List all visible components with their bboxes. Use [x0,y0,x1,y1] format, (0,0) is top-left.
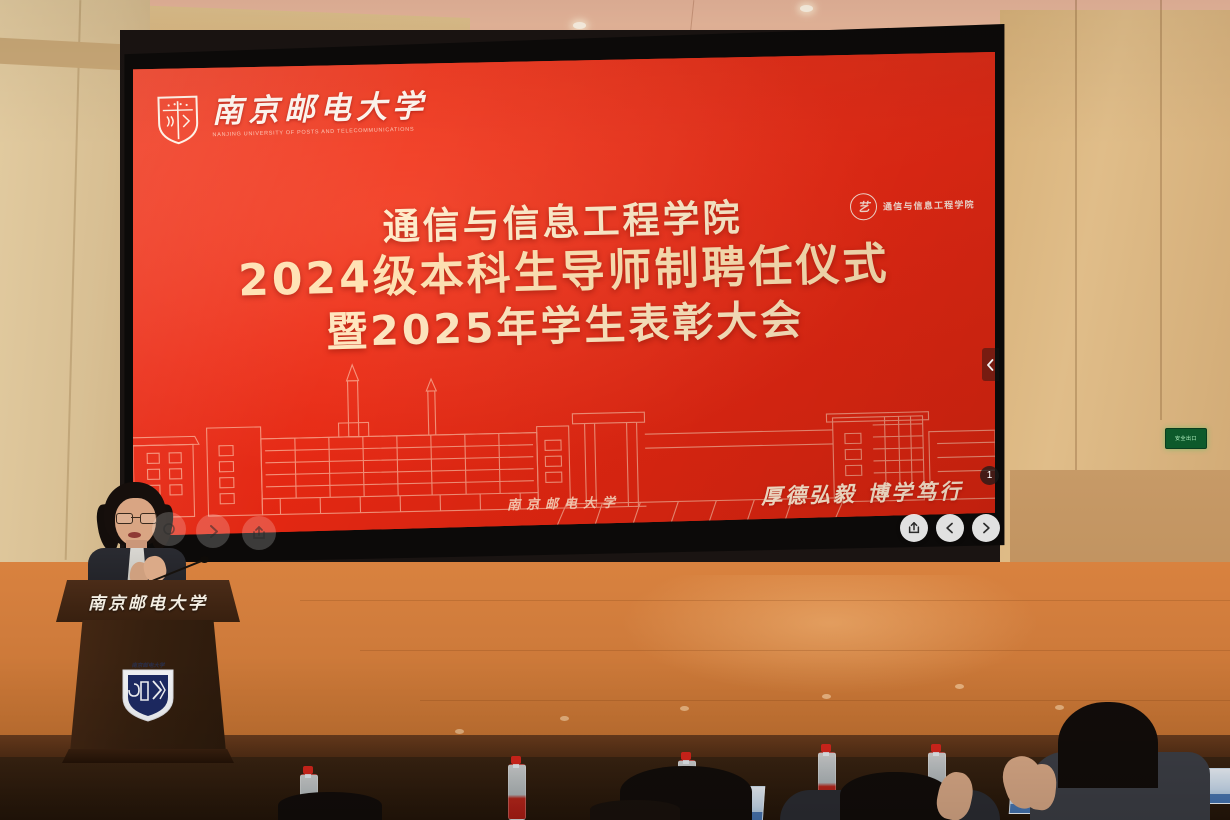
podium-top: 南京邮电大学 [56,580,240,622]
audience-head [278,792,382,820]
share-button[interactable] [900,514,928,542]
screen-university-name-cn: 南京邮电大学 [211,91,428,128]
next-button[interactable] [972,514,1000,542]
circle-icon [161,521,177,537]
audience-head [840,772,950,820]
campus-caption: 南京邮电大学 [507,492,621,514]
floor-marker [560,716,569,721]
floor-marker [955,684,964,689]
led-screen: 南京邮电大学 NANJING UNIVERSITY OF POSTS AND T… [133,52,995,536]
floor-seam [300,600,1230,601]
bottle-cap [511,756,521,764]
glasses-icon [116,513,155,522]
microphone-head [200,556,209,563]
audience-head [1058,702,1158,788]
water-bottle [508,756,524,820]
ceiling-light [800,5,813,12]
floor-marker [455,729,464,734]
chevron-right-icon [979,521,993,535]
floor-seam [420,700,1230,701]
mouth [128,532,141,538]
screen-title-block: 通信与信息工程学院 2024级本科生导师制聘任仪式 暨2025年学生表彰大会 [133,189,995,364]
chevron-right-icon [205,523,222,540]
microphone-arm [152,559,205,582]
glasses-lens [116,513,133,524]
floor-marker [1055,705,1064,710]
podium-name-plate: 南京邮电大学 [56,589,240,614]
previous-button[interactable] [936,514,964,542]
share-icon [907,521,921,535]
collapse-panel-tab[interactable] [982,348,999,381]
floor-seam [360,650,1230,651]
ghost-share-button[interactable] [242,516,276,550]
exit-sign: 安全出口 [1165,428,1207,449]
bottle-cap [303,766,313,774]
podium-base [62,749,234,763]
bottle-cap [681,752,691,760]
share-icon [251,525,267,541]
njupt-shield-crest: 南京邮电大学 [119,658,177,724]
ghost-next-button[interactable] [196,514,230,548]
audience-head [590,800,680,820]
njupt-crest-icon [155,93,200,146]
exit-sign-label: 安全出口 [1175,436,1197,442]
wall-seam [1160,0,1162,420]
podium: 南京邮电大学 南京邮电大学 [48,580,248,780]
screen-motto: 厚德弘毅 博学笃行 [760,475,963,511]
chevron-left-icon [986,359,995,371]
floor-marker [680,706,689,711]
screenshot-root: 安全出口 南京邮电大学 NA [0,0,1230,820]
bottle-cap [821,744,831,752]
bottle-body [508,764,526,820]
screen-university-name-block: 南京邮电大学 NANJING UNIVERSITY OF POSTS AND T… [211,91,428,139]
page-badge[interactable]: 1 [980,466,999,485]
ghost-button-1[interactable] [152,512,186,546]
bottle-cap [931,744,941,752]
screen-university-logo: 南京邮电大学 NANJING UNIVERSITY OF POSTS AND T… [155,86,428,146]
chevron-left-icon [943,521,957,535]
glasses-bridge [131,517,140,518]
floor-marker [822,694,831,699]
ceiling-light [573,22,586,29]
svg-text:南京邮电大学: 南京邮电大学 [131,662,166,669]
